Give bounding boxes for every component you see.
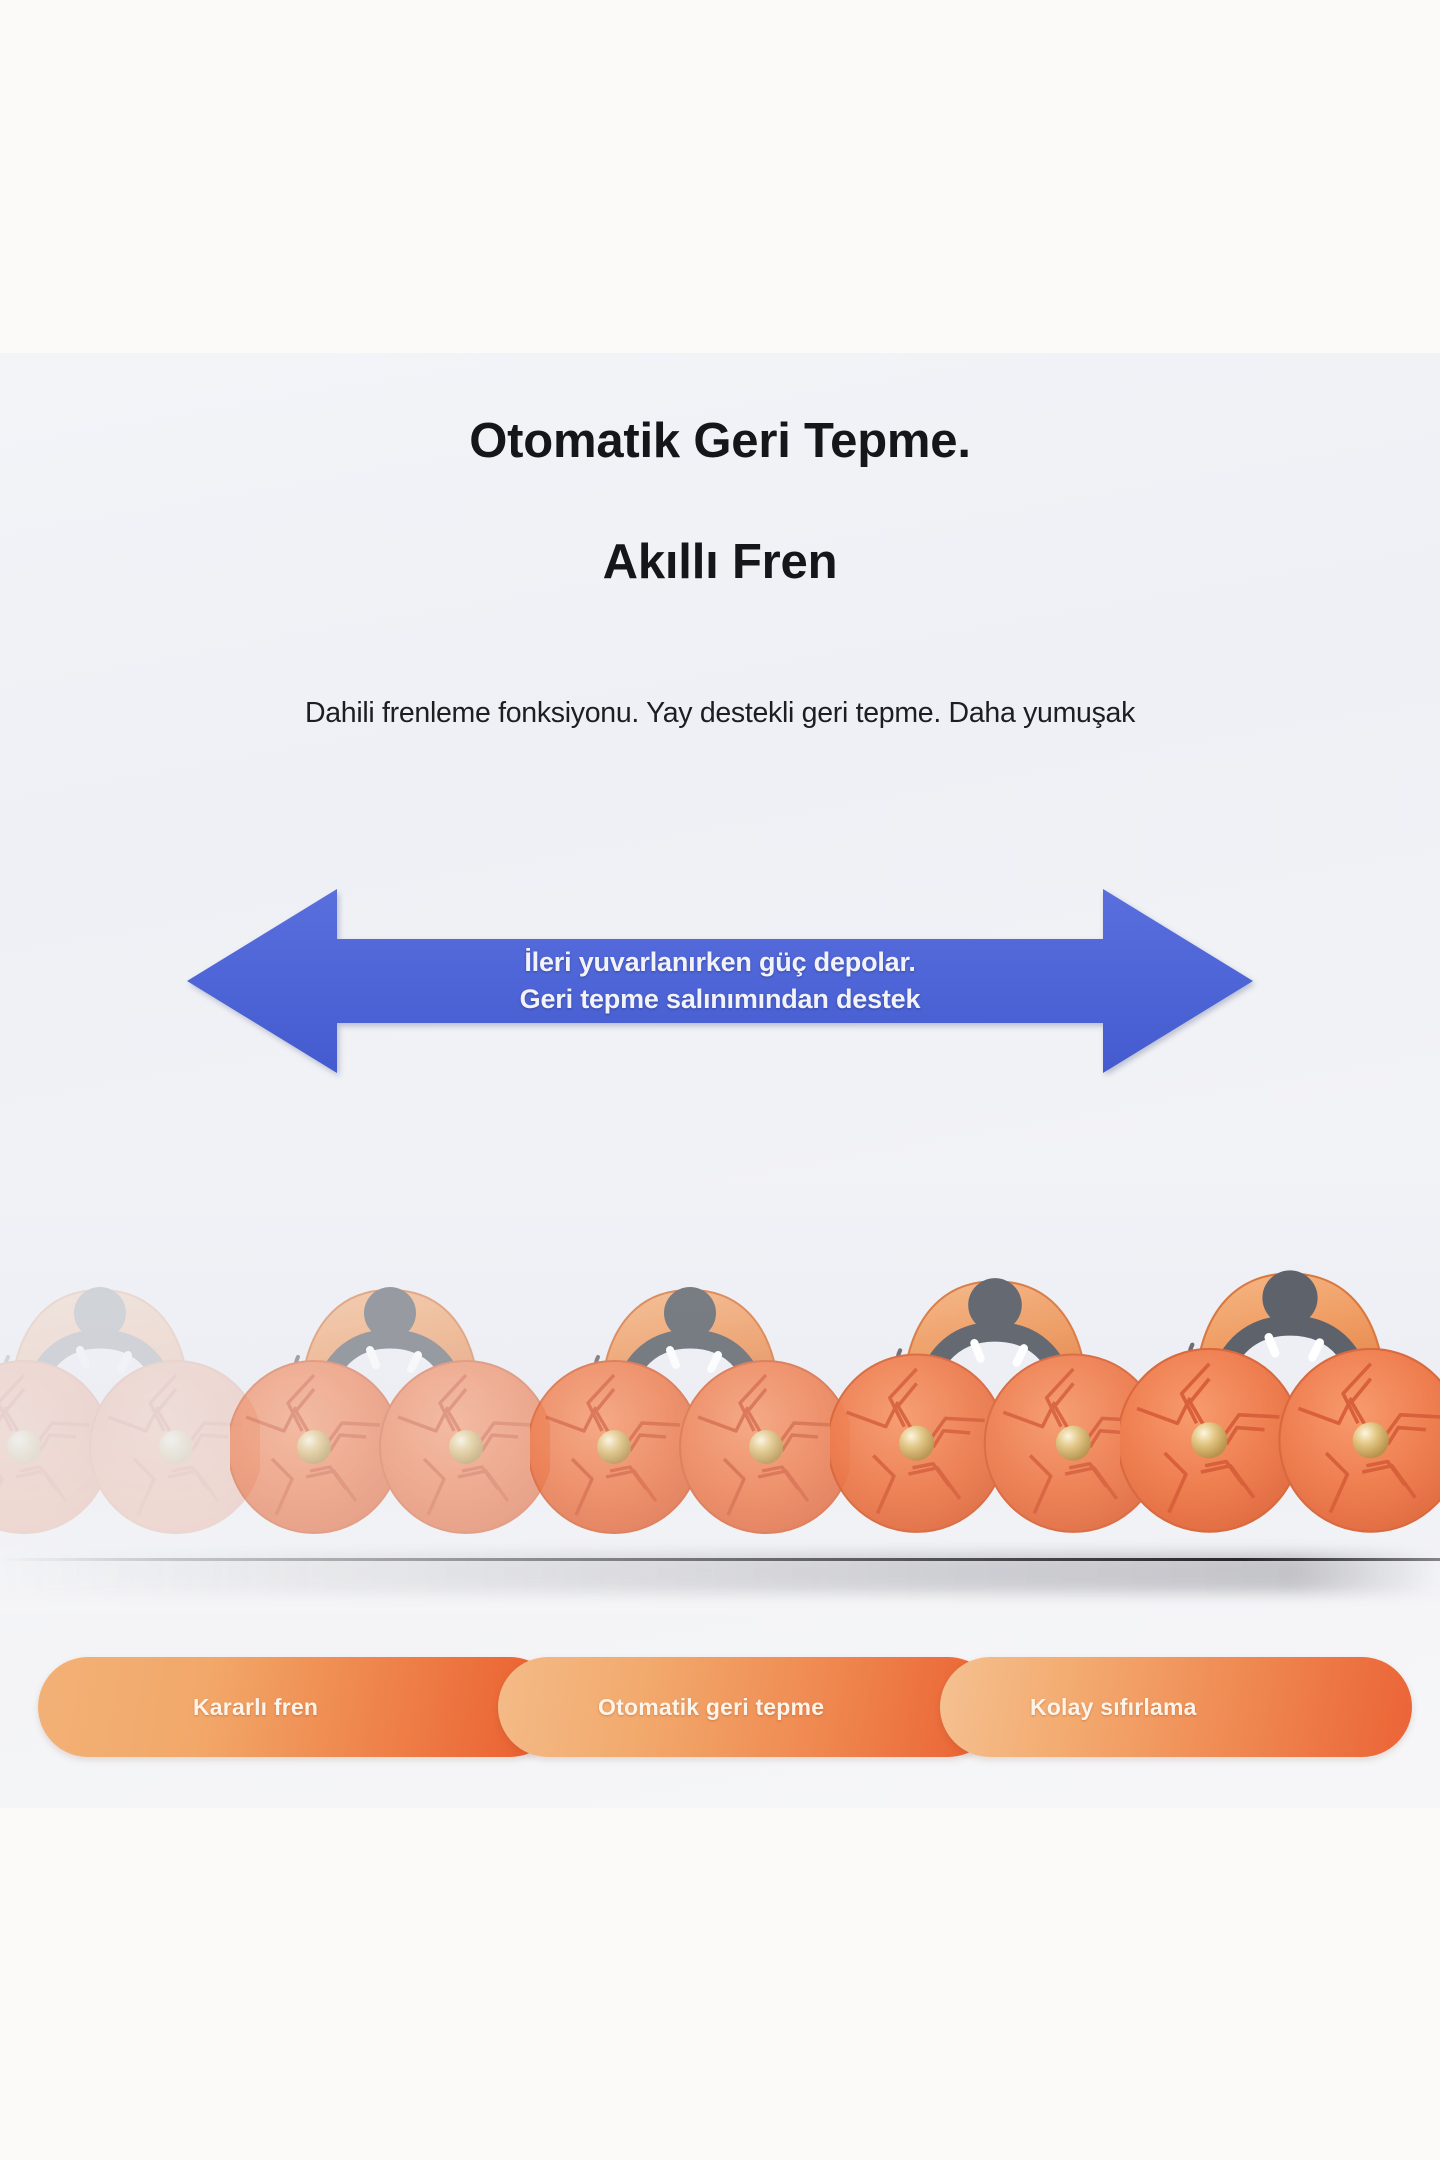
feature-pill-label: Otomatik geri tepme	[598, 1694, 824, 1721]
product-photo-strip	[0, 1183, 1440, 1613]
feature-pill-label: Kolay sıfırlama	[1030, 1694, 1197, 1721]
page-title-line-2: Akıllı Fren	[0, 536, 1440, 590]
double-headed-arrow-icon	[187, 881, 1253, 1081]
roller-frame-2	[230, 1265, 550, 1555]
subtitle-text: Dahili frenleme fonksiyonu. Yay destekli…	[0, 697, 1440, 730]
feature-pill-bar: Kararlı fren Otomatik geri tepme Kolay s…	[0, 1643, 1440, 1773]
bottom-margin-band	[0, 1808, 1440, 2160]
infographic-page: Otomatik Geri Tepme. Akıllı Fren Dahili …	[0, 0, 1440, 2160]
roller-frame-4	[830, 1255, 1160, 1555]
feature-pill-auto-rebound[interactable]: Otomatik geri tepme	[498, 1657, 998, 1757]
roller-frame-3	[530, 1265, 850, 1555]
page-title-line-1: Otomatik Geri Tepme.	[0, 415, 1440, 469]
top-margin-band	[0, 0, 1440, 353]
feature-pill-easy-reset[interactable]: Kolay sıfırlama	[940, 1657, 1412, 1757]
arrow-banner: İleri yuvarlanırken güç depolar. Geri te…	[187, 881, 1253, 1081]
roller-frame-1	[0, 1265, 260, 1555]
heading-block: Otomatik Geri Tepme. Akıllı Fren	[0, 415, 1440, 590]
floor-line	[0, 1558, 1440, 1561]
infographic-panel: Otomatik Geri Tepme. Akıllı Fren Dahili …	[0, 353, 1440, 1808]
feature-pill-stable-brake[interactable]: Kararlı fren	[38, 1657, 560, 1757]
roller-frame-5	[1120, 1247, 1440, 1555]
feature-pill-label: Kararlı fren	[193, 1694, 318, 1721]
